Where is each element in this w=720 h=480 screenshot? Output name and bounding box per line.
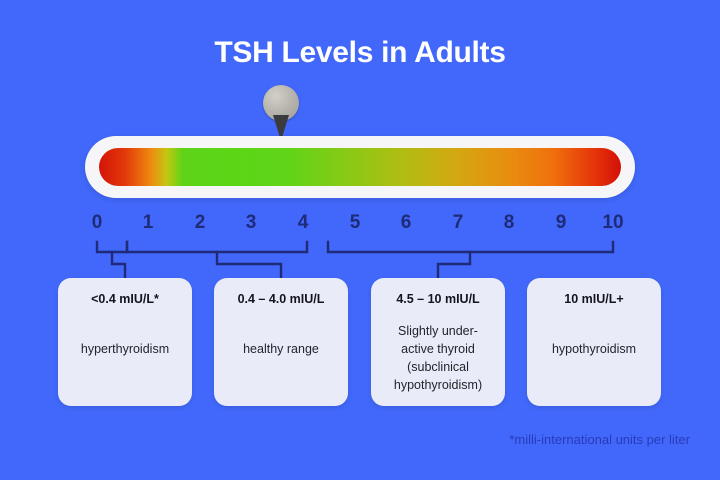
page-title: TSH Levels in Adults [0, 36, 720, 70]
card-subclinical-hypothyroidism[interactable]: 4.5 – 10 mIU/L Slightly under- active th… [371, 278, 505, 406]
scale-axis: 0 1 2 3 4 5 6 7 8 9 10 [85, 212, 635, 238]
scale-tick-7: 7 [438, 212, 478, 234]
scale-tick-10: 10 [593, 212, 633, 234]
bracket-healthy-drop [217, 252, 281, 278]
card-description: Slightly under- active thyroid (subclini… [371, 322, 505, 394]
scale-tick-2: 2 [180, 212, 220, 234]
bracket-healthy-top [127, 242, 307, 252]
tsh-infographic: TSH Levels in Adults 0 1 2 3 4 5 6 7 8 9… [0, 0, 720, 480]
card-range-label: 4.5 – 10 mIU/L [371, 292, 505, 306]
tsh-gauge-gradient [99, 148, 621, 186]
scale-tick-3: 3 [231, 212, 271, 234]
scale-tick-6: 6 [386, 212, 426, 234]
scale-tick-8: 8 [489, 212, 529, 234]
card-description: healthy range [214, 340, 348, 358]
card-hyperthyroidism[interactable]: <0.4 mIU/L* hyperthyroidism [58, 278, 192, 406]
bracket-subclinical-drop [438, 252, 470, 278]
bracket-subclinical-top [328, 242, 613, 252]
footnote: *milli-international units per liter [509, 432, 690, 447]
bracket-hyperthyroid-top [97, 242, 127, 252]
card-description: hyperthyroidism [58, 340, 192, 358]
scale-tick-4: 4 [283, 212, 323, 234]
scale-tick-0: 0 [77, 212, 117, 234]
card-range-label: 10 mIU/L+ [527, 292, 661, 306]
card-range-label: <0.4 mIU/L* [58, 292, 192, 306]
bracket-hyperthyroid-drop [112, 252, 125, 278]
card-range-label: 0.4 – 4.0 mIU/L [214, 292, 348, 306]
scale-tick-1: 1 [128, 212, 168, 234]
card-healthy-range[interactable]: 0.4 – 4.0 mIU/L healthy range [214, 278, 348, 406]
scale-tick-5: 5 [335, 212, 375, 234]
card-hypothyroidism[interactable]: 10 mIU/L+ hypothyroidism [527, 278, 661, 406]
tsh-gauge-track [85, 136, 635, 198]
bracket-connectors [0, 0, 720, 480]
card-description: hypothyroidism [527, 340, 661, 358]
scale-tick-9: 9 [541, 212, 581, 234]
